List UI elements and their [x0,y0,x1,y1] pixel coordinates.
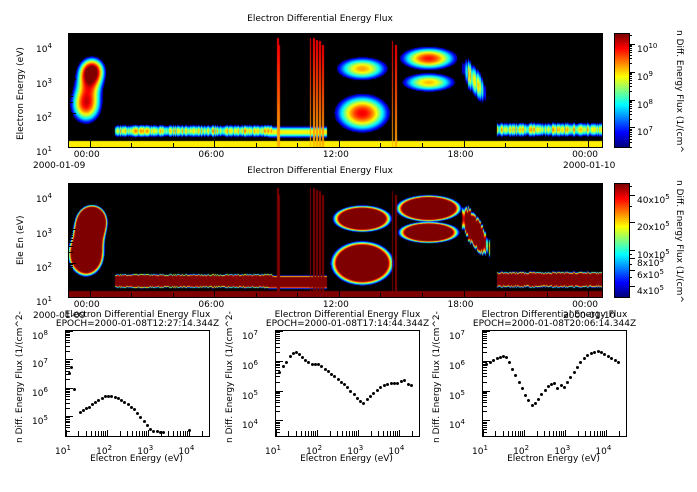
spec-mid-colorbar [614,183,630,298]
data-point [143,420,146,423]
spec-mid-ylabel: Ele En (eV) [16,215,26,265]
data-point [73,388,76,391]
data-point [573,371,576,374]
data-point [349,390,352,393]
axis-tick-label: 101 [36,290,52,309]
colorbar-tick-label: 107 [637,120,653,139]
data-point [544,389,547,392]
axis-tick-label: 107 [242,324,258,343]
data-point [139,416,142,419]
spec-mid-colorbar-label: n Diff. Energy Flux (1/(cm^ [674,180,684,303]
data-point [400,380,403,383]
data-point [593,351,596,354]
data-point [289,355,292,358]
spectrum-xlabel: Electron Energy (eV) [235,454,458,464]
data-point [127,403,130,406]
spectrum-plot-area [65,330,210,437]
time-tick-label: 00:00 [572,300,598,310]
data-point [514,374,517,377]
time-tick-label: 18:00 [448,300,474,310]
data-point [369,395,372,398]
spectrum-xlabel: Electron Energy (eV) [25,454,248,464]
axis-tick-label: 107 [449,324,465,343]
time-tick-label: 00:00 [74,150,100,160]
colorbar-tick-label: 4x105 [637,279,664,298]
axis-tick-label: 103 [36,222,52,241]
data-point [607,355,610,358]
data-point [356,397,359,400]
data-point [524,394,527,397]
axis-tick-label: 107 [32,352,48,371]
data-point [110,395,113,398]
data-point [123,401,126,404]
data-point [136,412,139,415]
axis-tick-label: 108 [32,324,48,343]
spec-top-colorbar [614,33,630,148]
data-point [603,353,606,356]
axis-tick-label: 106 [449,354,465,373]
data-point [576,366,579,369]
data-point [518,381,521,384]
colorbar-tick-label: 108 [637,93,653,112]
axis-tick-label: 105 [449,384,465,403]
data-point [505,356,508,359]
time-tick-label: 00:00 [74,300,100,310]
axis-tick-label: 103 [36,72,52,91]
axis-tick-label: 102 [36,106,52,125]
data-point [97,399,100,402]
spec-top-plot-area [68,33,603,148]
time-tick-label: 06:00 [198,150,224,160]
data-point [282,365,285,368]
colorbar-tick-label: 40x105 [637,188,670,207]
axis-tick-label: 105 [32,409,48,428]
data-point [540,393,543,396]
data-point [362,402,365,405]
data-point [617,361,620,364]
data-point [403,379,406,382]
spec-top-colorbar-label: n Diff. Energy Flux (1/(cm^ [674,30,684,153]
data-point [553,382,556,385]
data-point [566,381,569,384]
data-point [547,385,550,388]
data-point [70,366,73,369]
axis-tick-label: 102 [36,256,52,275]
data-point [527,399,530,402]
data-point [376,389,379,392]
data-point [79,411,82,414]
data-point [386,383,389,386]
time-tick-label: 18:00 [448,150,474,160]
time-tick-label: 12:00 [323,300,349,310]
data-point [333,375,336,378]
data-point [353,393,356,396]
data-point [521,387,524,390]
data-point [307,361,310,364]
data-point [320,365,323,368]
axis-tick-label: 104 [449,413,465,432]
spec-mid-title: Electron Differential Energy Flux [0,166,640,176]
data-point [586,354,589,357]
spec-top-title: Electron Differential Energy Flux [0,14,640,24]
time-tick-label: 06:00 [198,300,224,310]
spectrum-ylabel: n Diff. Energy Flux (1/(cm^2- [432,311,442,443]
data-point [563,386,566,389]
data-point [346,386,349,389]
data-point [410,384,413,387]
data-point [82,409,85,412]
time-tick-label: 00:00 [572,150,598,160]
data-point [511,368,514,371]
spec-top-ylabel: Electron Energy (eV) [16,47,26,140]
spec-mid-plot-area [68,183,603,298]
data-point [366,398,369,401]
spectrum-ylabel: n Diff. Energy Flux (1/(cm^2- [15,311,25,443]
data-point [379,386,382,389]
data-point [146,424,149,427]
data-point [91,403,94,406]
data-point [508,361,511,364]
data-point [396,382,399,385]
data-point [579,361,582,364]
colorbar-tick-label: 109 [637,65,653,84]
data-point [285,361,288,364]
data-point [534,402,537,405]
axis-tick-label: 104 [36,187,52,206]
data-point [531,404,534,407]
time-tick-label: 12:00 [323,150,349,160]
spectrum-plot-area [482,330,627,437]
axis-tick-label: 104 [36,37,52,56]
data-point [569,376,572,379]
data-point [152,430,155,433]
spectrum-plot-area [275,330,420,437]
spectrum-xlabel: Electron Energy (eV) [442,454,665,464]
data-point [583,357,586,360]
spectrum-ylabel: n Diff. Energy Flux (1/(cm^2- [225,311,235,443]
data-point [610,357,613,360]
axis-tick-label: 106 [32,381,48,400]
data-point [133,408,136,411]
colorbar-tick-label: 1010 [637,37,657,56]
data-point [492,359,495,362]
data-point [162,431,165,434]
colorbar-tick-label: 20x105 [637,215,670,234]
axis-tick-label: 106 [242,354,258,373]
axis-tick-label: 101 [36,140,52,159]
data-point [372,392,375,395]
axis-tick-label: 105 [242,384,258,403]
data-point [556,387,559,390]
data-point [537,398,540,401]
data-point [337,378,340,381]
data-point [88,406,91,409]
axis-tick-label: 104 [242,413,258,432]
